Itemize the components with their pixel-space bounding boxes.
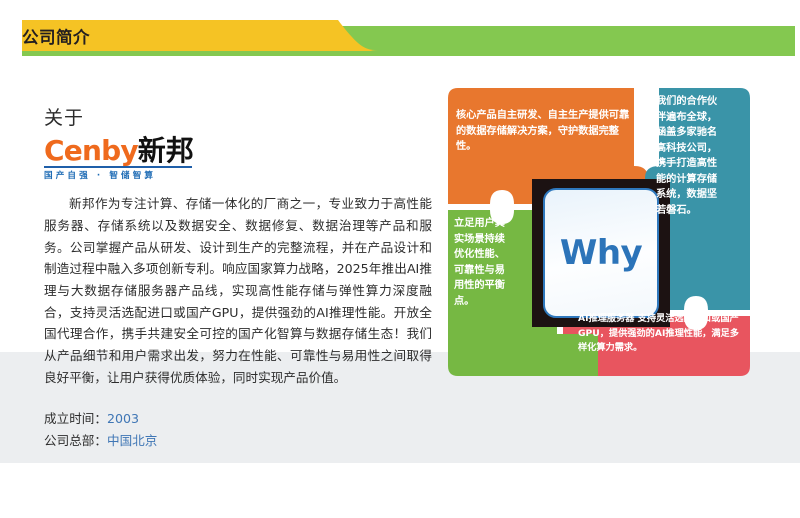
logo-text-cn: 新邦	[138, 134, 194, 167]
logo-wordmark: Cenby新邦	[44, 136, 192, 165]
logo-text-en: Cenby	[44, 134, 138, 167]
company-logo: Cenby新邦 国产自强 · 智储智算	[44, 136, 192, 181]
company-description: 新邦作为专注计算、存储一体化的厂商之一，专业致力于高性能服务器、存储系统以及数据…	[44, 193, 432, 388]
why-label: Why	[560, 236, 642, 270]
logo-tagline: 国产自强 · 智储智算	[44, 169, 192, 181]
fact-headquarters-label: 公司总部：	[44, 433, 107, 448]
about-label: 关于	[44, 108, 434, 129]
fact-founded: 成立时间：2003	[44, 408, 434, 430]
why-puzzle-diagram: Why 核心产品自主研发、自主生产提供可靠的数据存储解决方案，守护数据完整性。 …	[444, 82, 784, 402]
puzzle-text-teal: 我们的合作伙伴遍布全球，涵盖多家驰名高科技公司，携手打造高性能的计算存储系统，数…	[656, 94, 722, 218]
company-intro-column: 关于 Cenby新邦 国产自强 · 智储智算 新邦作为专注计算、存储一体化的厂商…	[44, 108, 434, 452]
fact-headquarters-value: 中国北京	[107, 433, 157, 448]
puzzle-text-orange: 核心产品自主研发、自主生产提供可靠的数据存储解决方案，守护数据完整性。	[456, 108, 631, 155]
puzzle-text-red: AI推理服务器 支持灵活选配进口或国产GPU，提供强劲的AI推理性能，满足多样化…	[578, 312, 741, 356]
company-facts: 成立时间：2003 公司总部：中国北京	[44, 408, 434, 451]
page-title: 公司简介	[22, 20, 322, 56]
puzzle-text-green: 立足用户真实场景持续优化性能、可靠性与易用性的平衡点。	[454, 216, 512, 309]
fact-headquarters: 公司总部：中国北京	[44, 430, 434, 452]
why-tile: Why	[543, 188, 659, 318]
fact-founded-label: 成立时间：	[44, 411, 107, 426]
fact-founded-value: 2003	[107, 411, 139, 426]
